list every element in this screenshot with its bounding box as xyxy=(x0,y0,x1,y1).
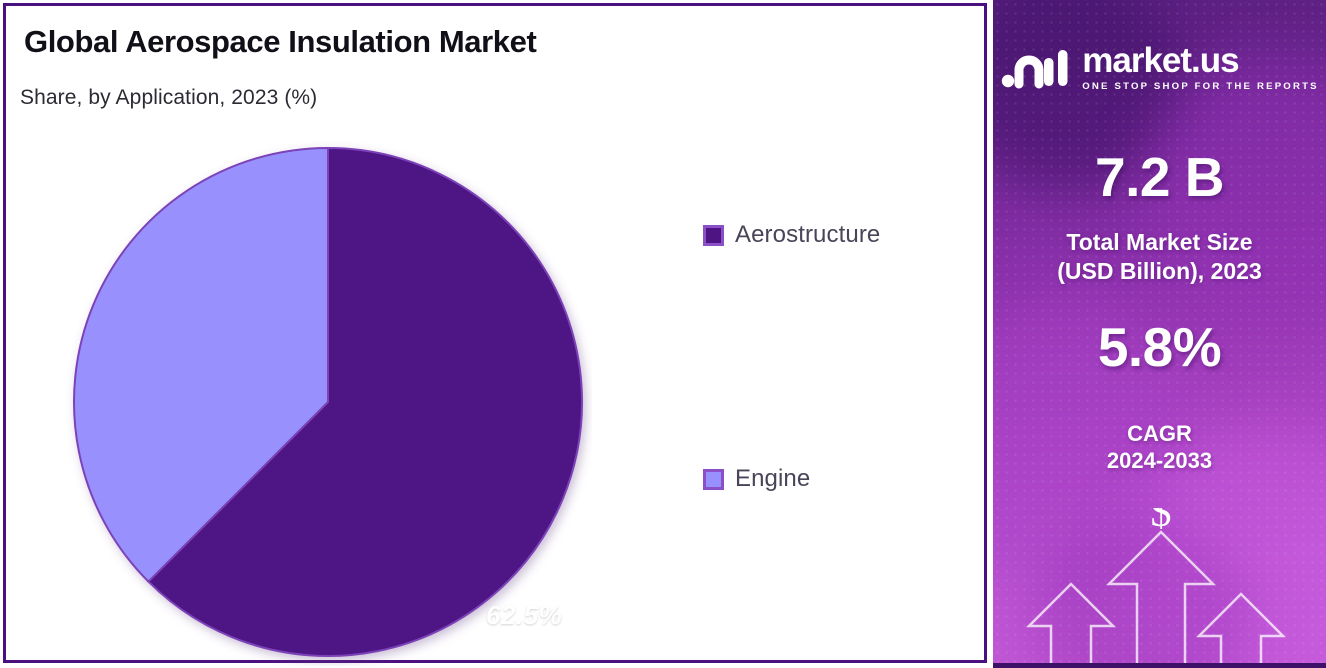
legend-item-label: Aerostructure xyxy=(735,221,880,249)
chart-panel: Global Aerospace Insulation Market Share… xyxy=(3,3,987,663)
legend-item-engine[interactable]: Engine xyxy=(703,465,810,493)
logo-tagline: ONE STOP SHOP FOR THE REPORTS xyxy=(1082,81,1319,92)
chart-subtitle: Share, by Application, 2023 (%) xyxy=(20,86,317,110)
market-us-logo-icon xyxy=(1000,46,1070,90)
bottom-strip xyxy=(993,663,1326,668)
pie-slice-value-label: 62.5% xyxy=(486,600,562,631)
infographic-page: Global Aerospace Insulation Market Share… xyxy=(0,0,1326,668)
legend-swatch-icon xyxy=(703,469,724,490)
cagr-caption: CAGR 2024-2033 xyxy=(993,420,1326,475)
market-size-value: 7.2 B xyxy=(993,145,1326,209)
page-title: Global Aerospace Insulation Market xyxy=(24,24,536,60)
dollar-sign-icon: $ xyxy=(1151,508,1172,536)
cagr-value: 5.8% xyxy=(993,315,1326,379)
stats-sidebar: market.us ONE STOP SHOP FOR THE REPORTS … xyxy=(993,0,1326,668)
logo-text: market.us ONE STOP SHOP FOR THE REPORTS xyxy=(1082,44,1319,92)
cagr-caption-line2: 2024-2033 xyxy=(993,447,1326,474)
growth-arrows-icon: $ xyxy=(993,508,1326,668)
cagr-caption-line1: CAGR xyxy=(993,420,1326,447)
pie-chart: 62.5% xyxy=(64,138,592,666)
market-size-caption-line2: (USD Billion), 2023 xyxy=(993,257,1326,286)
logo-wordmark: market.us xyxy=(1082,44,1238,78)
pie-chart-svg xyxy=(64,138,592,666)
market-size-caption-line1: Total Market Size xyxy=(993,228,1326,257)
legend-item-aerostructure[interactable]: Aerostructure xyxy=(703,221,880,249)
legend-item-label: Engine xyxy=(735,465,810,493)
brand-logo[interactable]: market.us ONE STOP SHOP FOR THE REPORTS xyxy=(993,44,1326,92)
legend-swatch-icon xyxy=(703,225,724,246)
market-size-caption: Total Market Size (USD Billion), 2023 xyxy=(993,228,1326,285)
chart-legend: Aerostructure Engine xyxy=(703,6,973,666)
